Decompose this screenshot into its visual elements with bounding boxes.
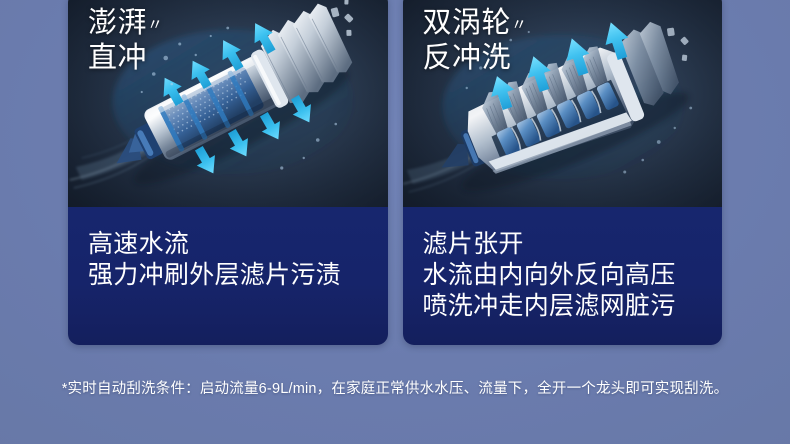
panel-title-left-line1: 澎湃 [88, 7, 147, 39]
panel-title-right-line2: 反冲洗 [423, 42, 512, 74]
caption-line: 喷洗冲走内层滤网脏污 [423, 291, 723, 322]
feature-panel-row: 澎湃〃 直冲 [68, 0, 722, 345]
caption-line: 高速水流 [88, 229, 388, 260]
panel-title-right-line1: 双涡轮 [423, 7, 512, 39]
product-photo-right: 双涡轮〃 反冲洗 [403, 0, 723, 207]
caption-line: 水流由内向外反向高压 [423, 260, 723, 291]
panel-caption-left: 高速水流 强力冲刷外层滤片污渍 [68, 207, 388, 345]
panel-caption-right: 滤片张开 水流由内向外反向高压 喷洗冲走内层滤网脏污 [403, 207, 723, 345]
feature-panel-left: 澎湃〃 直冲 [68, 0, 388, 345]
feature-panel-right: 双涡轮〃 反冲洗 [403, 0, 723, 345]
product-feature-banner: 澎湃〃 直冲 [0, 0, 790, 444]
product-photo-left: 澎湃〃 直冲 [68, 0, 388, 207]
ditto-mark-left: 〃 [147, 17, 162, 34]
panel-title-left-line2: 直冲 [88, 42, 147, 74]
panel-title-left: 澎湃〃 直冲 [88, 6, 162, 76]
ditto-mark-right: 〃 [511, 17, 526, 34]
footnote-text: *实时自动刮洗条件：启动流量6-9L/min，在家庭正常供水水压、流量下，全开一… [0, 379, 790, 399]
caption-line: 滤片张开 [423, 229, 723, 260]
caption-line: 强力冲刷外层滤片污渍 [88, 260, 388, 291]
panel-title-right: 双涡轮〃 反冲洗 [423, 6, 527, 76]
